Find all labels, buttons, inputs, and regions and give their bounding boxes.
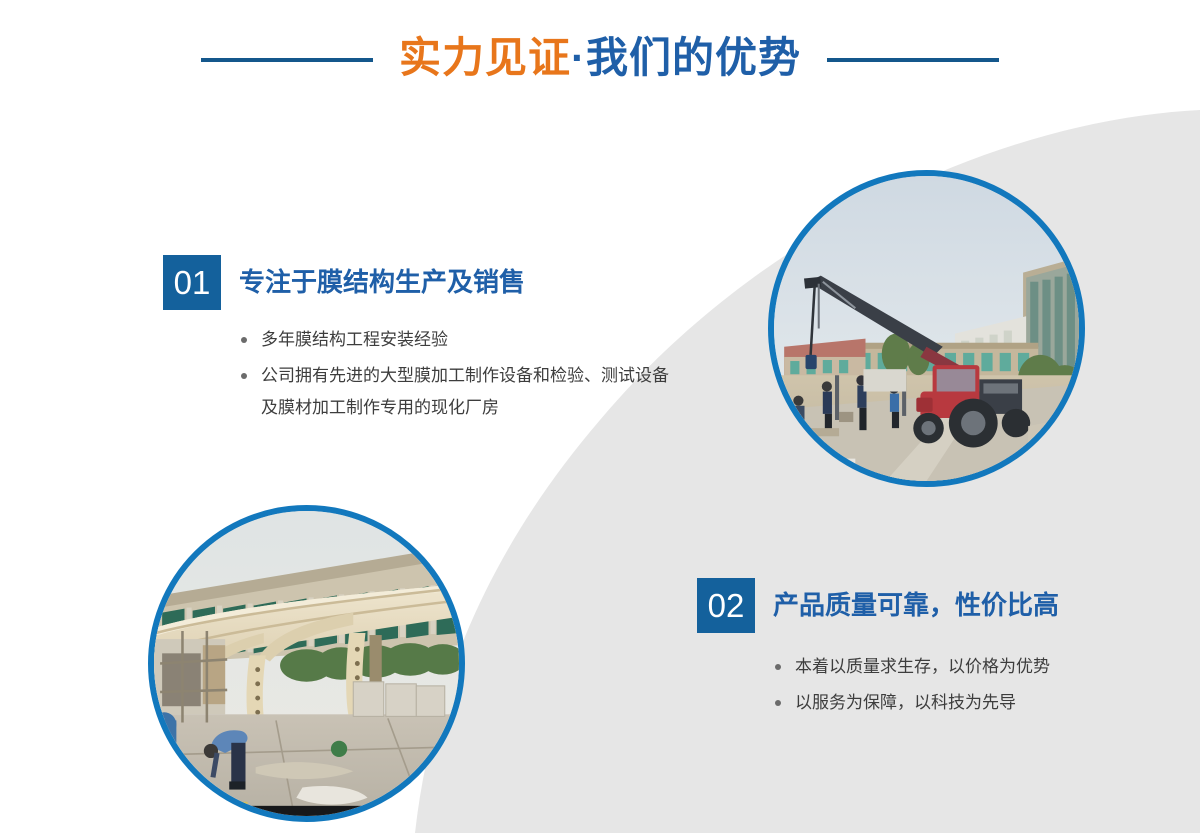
- page-header: 实力见证·我们的优势: [0, 0, 1200, 120]
- feature-01-number-badge: 01: [163, 255, 221, 310]
- feature-01-head: 01 专注于膜结构生产及销售: [163, 255, 693, 310]
- page-title-orange: 实力见证: [399, 34, 571, 81]
- feature-02-bullet-list: 本着以质量求生存，以价格为优势 以服务为保障，以科技为先导: [773, 651, 1127, 719]
- header-rule-right: [827, 58, 999, 62]
- list-item: 本着以质量求生存，以价格为优势: [773, 651, 1127, 683]
- list-item: 以服务为保障，以科技为先导: [773, 687, 1127, 719]
- truck-crane-illustration: [774, 176, 1079, 481]
- feature-02-head: 02 产品质量可靠，性价比高: [697, 578, 1127, 633]
- header-rule-left: [201, 58, 373, 62]
- photo-truck-crane: [768, 170, 1085, 487]
- feature-01-bullet-list: 多年膜结构工程安装经验 公司拥有先进的大型膜加工制作设备和检验、测试设备及膜材加…: [239, 324, 693, 424]
- feature-02-title: 产品质量可靠，性价比高: [773, 578, 1059, 633]
- list-item: 多年膜结构工程安装经验: [239, 324, 693, 356]
- feature-block-02: 02 产品质量可靠，性价比高 本着以质量求生存，以价格为优势 以服务为保障，以科…: [697, 578, 1127, 723]
- list-item: 公司拥有先进的大型膜加工制作设备和检验、测试设备及膜材加工制作专用的现化厂房: [239, 360, 669, 424]
- membrane-canopy-illustration: [154, 511, 459, 816]
- feature-02-number-badge: 02: [697, 578, 755, 633]
- feature-block-01: 01 专注于膜结构生产及销售 多年膜结构工程安装经验 公司拥有先进的大型膜加工制…: [163, 255, 693, 428]
- photo-membrane-canopy: [148, 505, 465, 822]
- page-title: 实力见证·我们的优势: [399, 37, 801, 83]
- page-title-blue: ·我们的优势: [571, 34, 801, 81]
- feature-01-title: 专注于膜结构生产及销售: [239, 255, 525, 310]
